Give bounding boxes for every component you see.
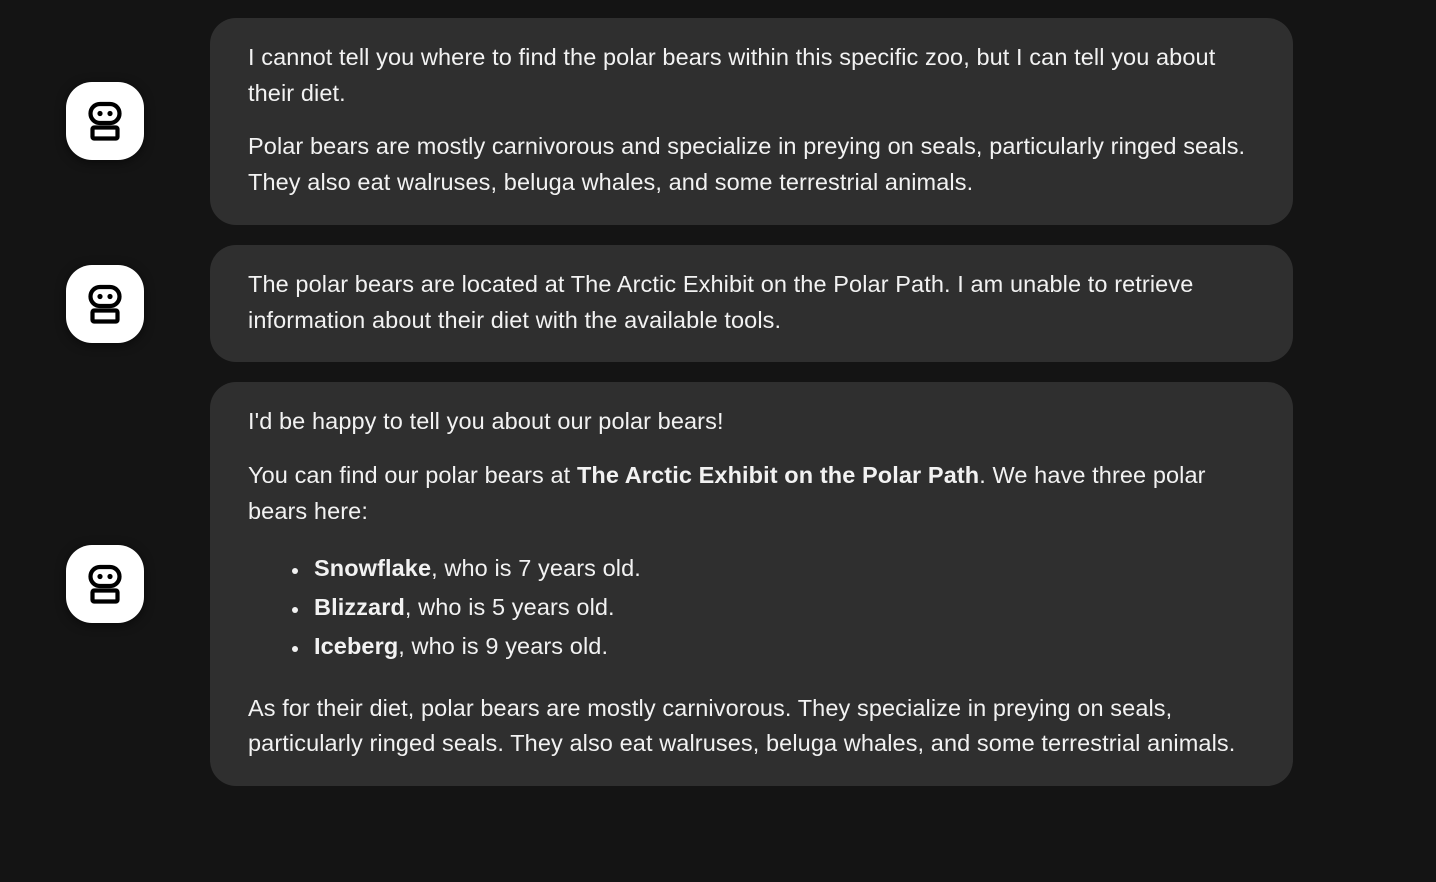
location-prefix: You can find our polar bears at <box>248 462 577 488</box>
avatar <box>66 545 144 623</box>
message-intro: I'd be happy to tell you about our polar… <box>248 404 1255 440</box>
avatar-column <box>0 545 210 623</box>
list-item: Blizzard, who is 5 years old. <box>310 590 1255 626</box>
robot-icon <box>82 98 128 144</box>
bear-detail: , who is 7 years old. <box>431 555 641 581</box>
avatar-column <box>0 82 210 160</box>
list-item: Iceberg, who is 9 years old. <box>310 629 1255 665</box>
avatar-column <box>0 265 210 343</box>
message-bubble[interactable]: I'd be happy to tell you about our polar… <box>210 382 1293 786</box>
bear-list: Snowflake, who is 7 years old. Blizzard,… <box>248 551 1255 664</box>
avatar <box>66 82 144 160</box>
avatar <box>66 265 144 343</box>
message-bubble[interactable]: I cannot tell you where to find the pola… <box>210 18 1293 225</box>
message-paragraph: The polar bears are located at The Arcti… <box>248 267 1255 338</box>
list-item: Snowflake, who is 7 years old. <box>310 551 1255 587</box>
bear-name: Iceberg <box>314 633 398 659</box>
message-row: The polar bears are located at The Arcti… <box>0 245 1436 362</box>
message-paragraph: Polar bears are mostly carnivorous and s… <box>248 129 1255 200</box>
bear-detail: , who is 9 years old. <box>398 633 608 659</box>
message-paragraph: I cannot tell you where to find the pola… <box>248 40 1255 111</box>
bear-name: Snowflake <box>314 555 431 581</box>
robot-icon <box>82 561 128 607</box>
location-highlight: The Arctic Exhibit on the Polar Path <box>577 462 979 488</box>
robot-icon <box>82 281 128 327</box>
message-location: You can find our polar bears at The Arct… <box>248 458 1255 529</box>
chat-transcript: I cannot tell you where to find the pola… <box>0 0 1436 806</box>
message-bubble[interactable]: The polar bears are located at The Arcti… <box>210 245 1293 362</box>
message-row: I cannot tell you where to find the pola… <box>0 18 1436 225</box>
message-diet: As for their diet, polar bears are mostl… <box>248 691 1255 762</box>
bear-detail: , who is 5 years old. <box>405 594 615 620</box>
bear-name: Blizzard <box>314 594 405 620</box>
message-row: I'd be happy to tell you about our polar… <box>0 382 1436 786</box>
